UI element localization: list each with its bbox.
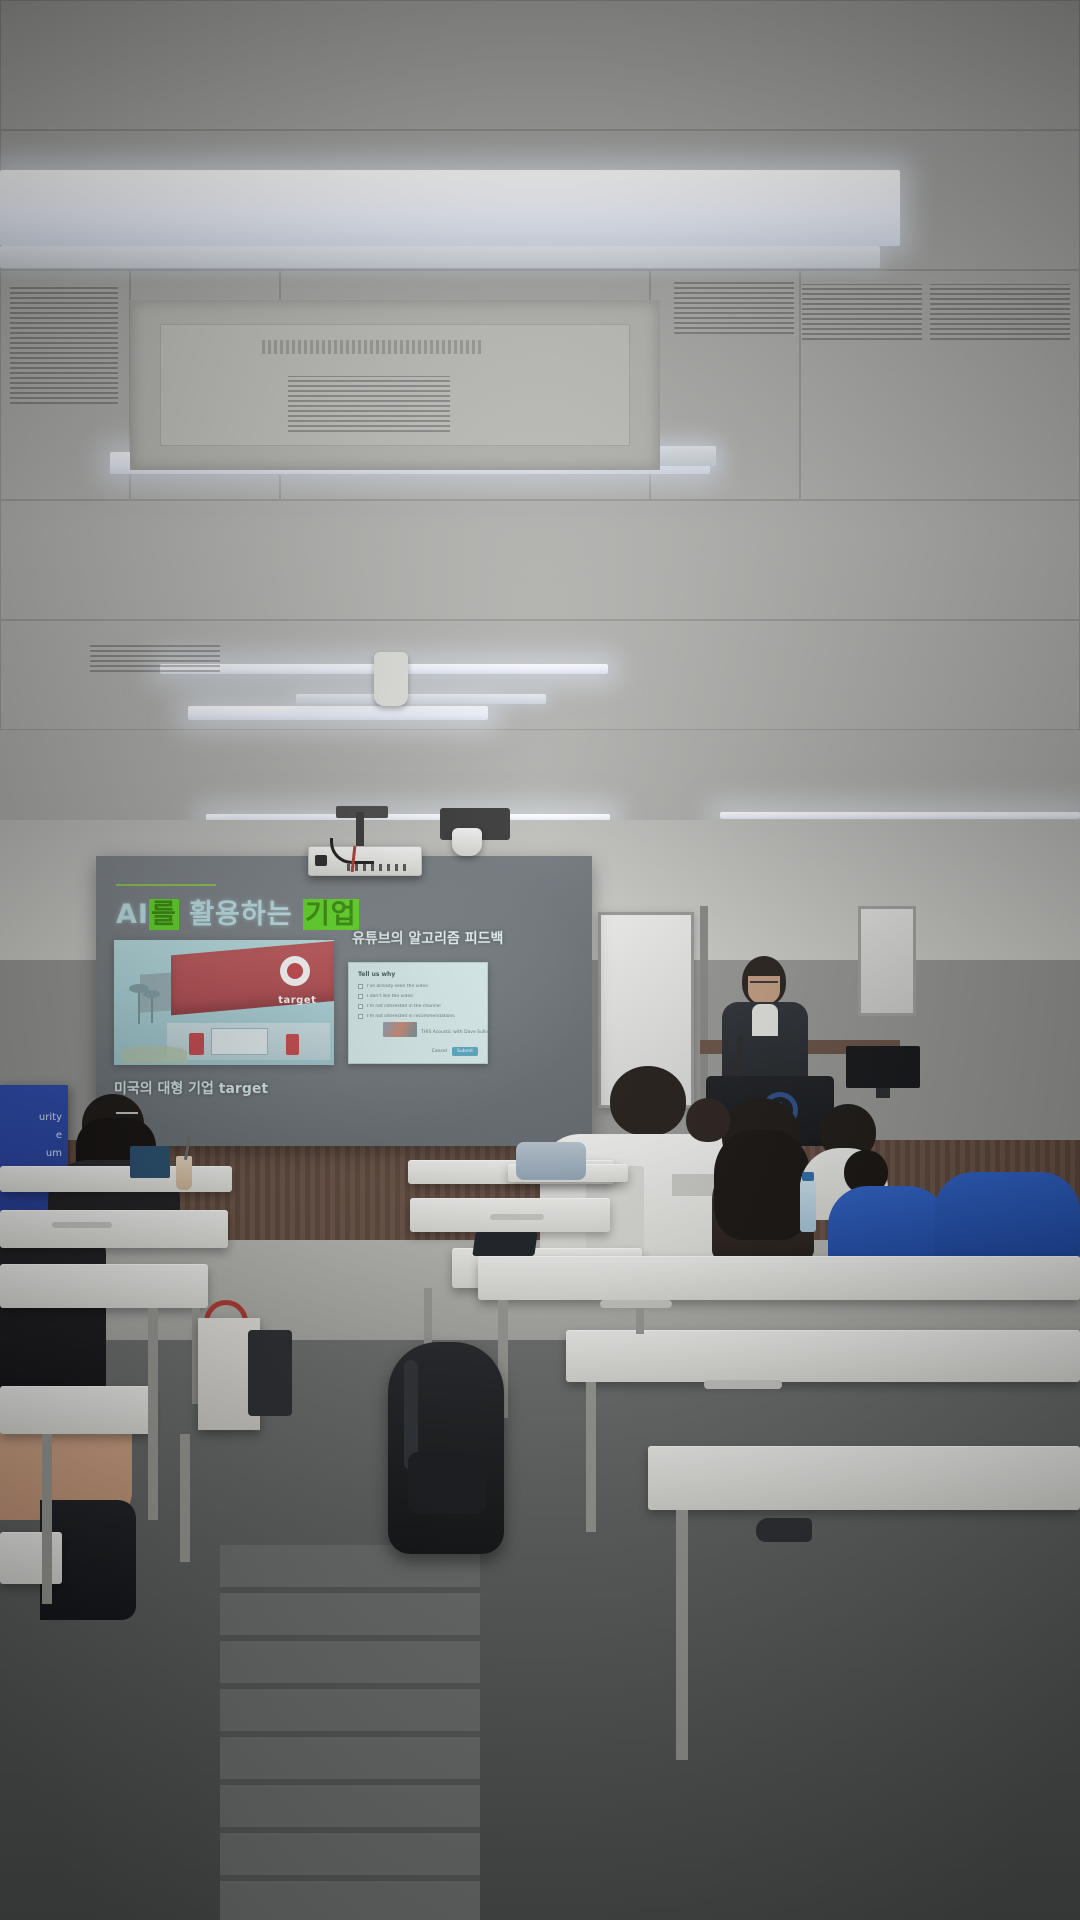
photo-shrubbery: [121, 1046, 187, 1062]
projection-screen: AI를 활용하는 기업 target 미국의 대형 기업 target 유튜브의…: [96, 856, 592, 1146]
slide-left-caption: 미국의 대형 기업 target: [114, 1078, 268, 1098]
lecture-desk: [648, 1446, 1080, 1510]
dialog-option-label: I don't like the video: [367, 994, 413, 999]
desk-leg: [586, 1382, 596, 1532]
audience-torso: [934, 1172, 1080, 1264]
ceiling-vent: [930, 284, 1070, 340]
dialog-buttons: Cancel Submit: [432, 1047, 478, 1056]
checkbox-icon: [358, 994, 363, 999]
target-bullseye-logo: [280, 956, 310, 986]
shirt-graphic-print: [672, 1174, 716, 1196]
ceiling-light-panel: [0, 246, 880, 268]
smoke-detector: [374, 652, 408, 706]
checkbox-icon: [358, 1004, 363, 1009]
desk-edge: [600, 1300, 672, 1308]
slide-title-part: 활용하는: [179, 899, 303, 930]
banner-line: urity: [39, 1109, 62, 1127]
audience-torso: [828, 1186, 948, 1264]
glasses-icon: [750, 981, 778, 987]
lecture-desk: [0, 1386, 152, 1434]
ceiling-tile: [0, 0, 1080, 130]
folded-jacket: [516, 1142, 586, 1180]
dialog-option-row: I'm not interested in recommendations: [358, 1014, 478, 1019]
ceiling-speaker: [452, 828, 482, 856]
ceiling-tile: [0, 500, 1080, 620]
presenter-shirt: [752, 1004, 778, 1036]
dialog-option-row: I've already seen the video: [358, 984, 478, 989]
dialog-option-row: I'm not interested in the channel: [358, 1004, 478, 1009]
banner-text: urity e um: [39, 1109, 62, 1163]
glasses-icon: [116, 1112, 138, 1117]
projector-lens: [315, 855, 327, 866]
water-bottle: [800, 1180, 816, 1232]
audience-head: [686, 1098, 730, 1142]
desk-leg: [148, 1308, 158, 1520]
backpack-pocket: [408, 1452, 486, 1514]
desk-leg: [180, 1434, 190, 1562]
banner-line: um: [39, 1145, 62, 1163]
dialog-option-label: I've already seen the video: [367, 984, 428, 989]
photo-palm-tree: [138, 990, 140, 1024]
bottle-cap: [802, 1172, 814, 1181]
checkbox-icon: [358, 984, 363, 989]
dialog-option-row: I don't like the video: [358, 994, 478, 999]
ceiling-tile: [0, 620, 1080, 730]
target-wordmark: target: [278, 995, 316, 1006]
foreground-person-torso: [0, 1228, 106, 1408]
caption-korean: 미국의 대형 기업: [114, 1081, 219, 1097]
audience-head: [610, 1066, 686, 1136]
ac-vent-grill: [262, 340, 484, 354]
caption-brand: target: [219, 1081, 268, 1097]
target-store-photo: target: [114, 940, 334, 1065]
dark-bag: [248, 1330, 292, 1416]
ceiling-vent: [674, 282, 794, 334]
lecture-desk: [0, 1264, 208, 1308]
laptop[interactable]: [130, 1146, 170, 1178]
tablet[interactable]: [472, 1232, 537, 1256]
slide-title-highlight: 를: [149, 899, 179, 930]
lecture-desk: [0, 1210, 228, 1248]
checkbox-icon: [358, 1014, 363, 1019]
lecture-desk: [478, 1256, 1080, 1300]
desk-edge: [704, 1380, 782, 1389]
slide-title-highlight: 기업: [303, 899, 359, 930]
slide-title: AI를 활용하는 기업: [116, 892, 359, 931]
submit-button[interactable]: Submit: [452, 1047, 478, 1056]
audience-hair-long: [714, 1130, 810, 1240]
slide-title-part: AI: [116, 899, 149, 930]
banner-line: e: [39, 1127, 62, 1145]
ceiling-vent: [802, 284, 922, 340]
aisle-steps: [220, 1545, 480, 1920]
dialog-option-label: I'm not interested in the channel: [367, 1004, 441, 1009]
desk-leg: [676, 1510, 688, 1760]
slide-right-heading: 유튜브의 알고리즘 피드백: [352, 928, 503, 948]
lecture-hall-photo: AI를 활용하는 기업 target 미국의 대형 기업 target 유튜브의…: [0, 0, 1080, 1920]
desk-edge: [490, 1214, 544, 1220]
desk-edge: [52, 1222, 112, 1228]
youtube-feedback-dialog: Tell us why I've already seen the video …: [348, 962, 488, 1064]
photo-cart-corral: [286, 1034, 299, 1055]
monitor-stand: [876, 1088, 890, 1098]
ceiling-light-panel: [720, 812, 1080, 819]
ceiling-light-panel: [188, 706, 488, 720]
video-title: THIS Acoustic with Dave Sullivan: [421, 1030, 495, 1035]
dialog-heading: Tell us why: [358, 971, 478, 978]
ceiling-vent: [90, 644, 220, 672]
lecture-desk: [566, 1330, 1080, 1382]
photo-entrance-doors: [211, 1028, 268, 1056]
cancel-button[interactable]: Cancel: [432, 1049, 447, 1054]
ceiling-light-panel: [296, 694, 546, 704]
lecture-desk: [0, 1532, 62, 1584]
video-thumbnail: [383, 1022, 417, 1037]
ceiling-vent: [10, 286, 118, 404]
slide-accent-rule: [116, 884, 216, 886]
ac-intake-grill: [288, 376, 450, 432]
shoe: [756, 1518, 812, 1542]
podium-monitor: [846, 1046, 920, 1088]
ceiling-light-panel: [0, 170, 900, 246]
photo-cart-corral: [189, 1033, 204, 1056]
whiteboard-secondary: [858, 906, 916, 1016]
floor: [0, 1340, 1080, 1920]
desk-leg: [42, 1434, 52, 1604]
lecture-desk: [0, 1166, 232, 1192]
dialog-option-label: I'm not interested in recommendations: [367, 1014, 455, 1019]
drink-cup: [176, 1156, 192, 1190]
projector-ports: [347, 864, 411, 871]
photo-palm-tree: [151, 995, 153, 1023]
